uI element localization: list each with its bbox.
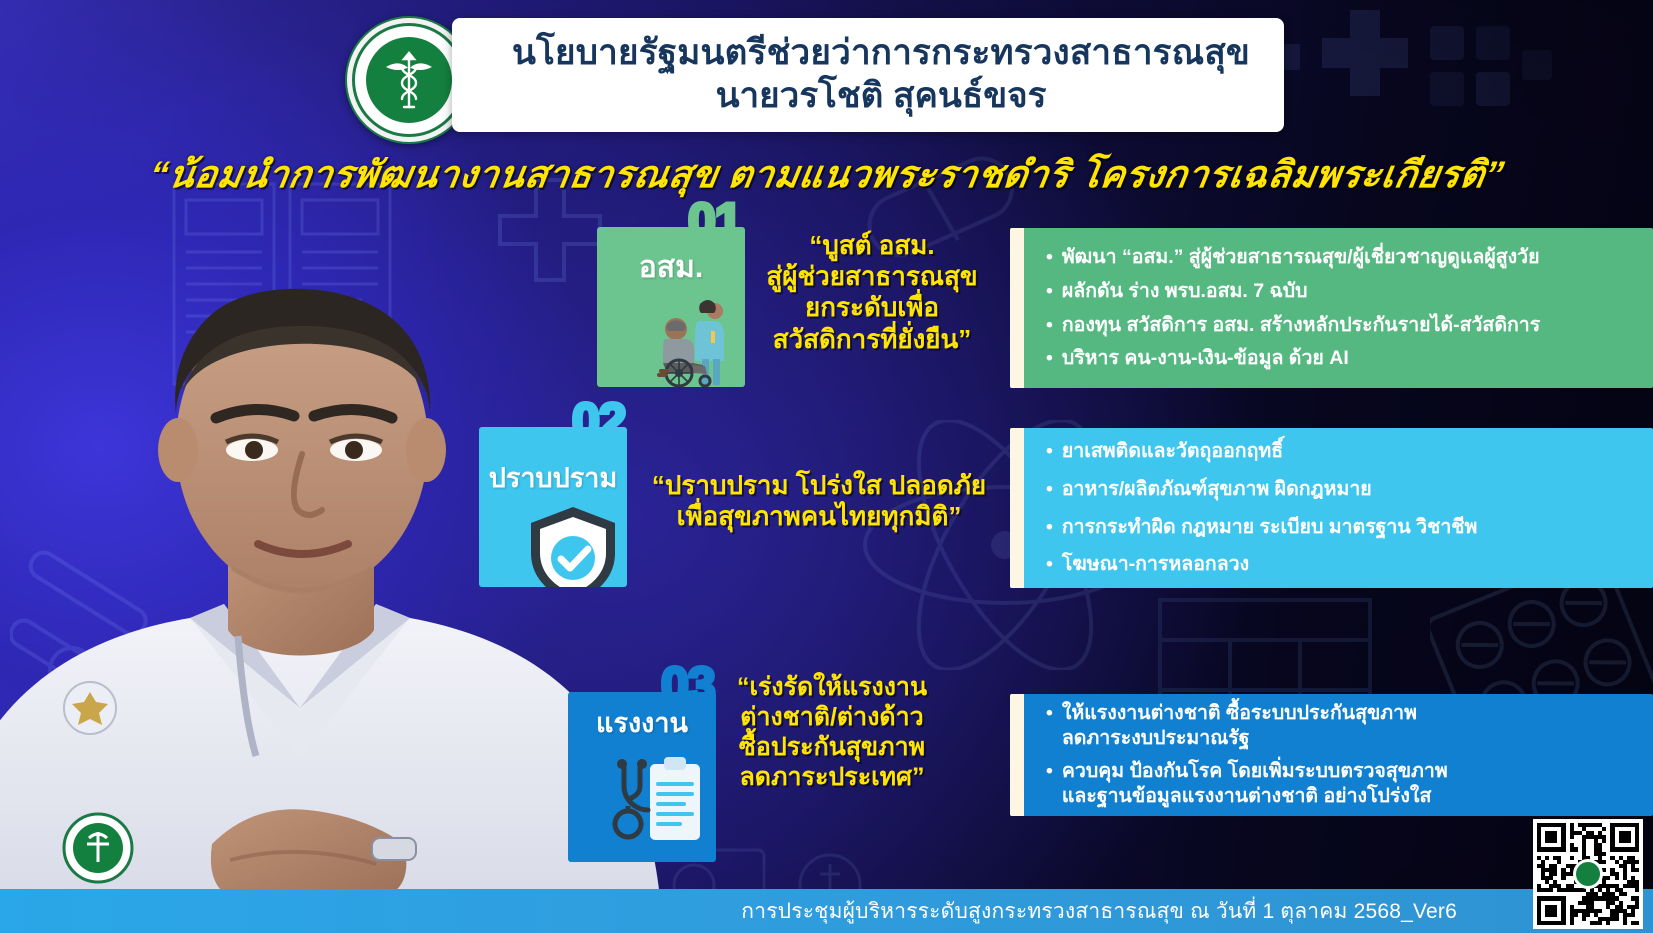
bullet-dot: •	[1046, 515, 1053, 540]
list-item: • อาหาร/ผลิตภัณฑ์สุขภาพ ผิดกฎหมาย	[1046, 477, 1637, 502]
section-02-quote: “ปราบปราม โปร่งใส ปลอดภัยเพื่อสุขภาพคนไท…	[634, 470, 1004, 532]
bullet-text: พัฒนา “อสม.” สู่ผู้ช่วยสาธารณสุข/ผู้เชี่…	[1062, 245, 1540, 270]
section-01-card-title: อสม.	[639, 253, 703, 283]
bullet-text: ผลักดัน ร่าง พรบ.อสม. 7 ฉบับ	[1062, 279, 1308, 304]
panel-edge	[1010, 428, 1024, 588]
qr-code[interactable]	[1533, 819, 1643, 929]
subtitle-text: “น้อมนำการพัฒนางานสาธารณสุข ตามแนวพระราช…	[145, 145, 1508, 204]
bullet-dot: •	[1046, 701, 1053, 726]
header-title-line2: นายวรโชติ สุคนธ์ขจร	[716, 76, 1047, 117]
section-01-quote: “บูสต์ อสม.สู่ผู้ช่วยสาธารณสุขยกระดับเพื…	[752, 230, 992, 355]
bullet-text: ให้แรงงานต่างชาติ ซื้อระบบประกันสุขภาพลด…	[1062, 701, 1417, 751]
bullet-dot: •	[1046, 552, 1053, 577]
bullet-dot: •	[1046, 439, 1053, 464]
footer-text: การประชุมผู้บริหารระดับสูงกระทรวงสาธารณส…	[741, 895, 1457, 928]
list-item: • ผลักดัน ร่าง พรบ.อสม. 7 ฉบับ	[1046, 279, 1637, 304]
subtitle-banner: “น้อมนำการพัฒนางานสาธารณสุข ตามแนวพระราช…	[0, 142, 1653, 206]
bullet-dot: •	[1046, 759, 1053, 784]
section-02-card: ปราบปราม	[479, 427, 627, 587]
section-02-panel: • ยาเสพติดและวัตถุออกฤทธิ์ • อาหาร/ผลิตภ…	[1010, 428, 1653, 588]
shield-check-icon	[523, 503, 623, 587]
bullet-dot: •	[1046, 313, 1053, 338]
panel-edge	[1010, 228, 1024, 388]
infographic-canvas: นโยบายรัฐมนตรีช่วยว่าการกระทรวงสาธารณสุข…	[0, 0, 1653, 933]
list-item: • ควบคุม ป้องกันโรค โดยเพิ่มระบบตรวจสุขภ…	[1046, 759, 1637, 809]
bullet-text: ควบคุม ป้องกันโรค โดยเพิ่มระบบตรวจสุขภาพ…	[1062, 759, 1448, 809]
bullet-text: อาหาร/ผลิตภัณฑ์สุขภาพ ผิดกฎหมาย	[1062, 477, 1372, 502]
caregiver-wheelchair-icon	[643, 285, 745, 387]
section-03-card: แรงงาน	[568, 692, 716, 862]
section-03-quote: “เร่งรัดให้แรงงานต่างชาติ/ต่างด้าวซื้อปร…	[720, 672, 944, 792]
list-item: • ให้แรงงานต่างชาติ ซื้อระบบประกันสุขภาพ…	[1046, 701, 1637, 751]
bullet-dot: •	[1046, 245, 1053, 270]
list-item: • ยาเสพติดและวัตถุออกฤทธิ์	[1046, 439, 1637, 464]
list-item: • บริหาร คน-งาน-เงิน-ข้อมูล ด้วย AI	[1046, 346, 1637, 371]
section-03-panel: • ให้แรงงานต่างชาติ ซื้อระบบประกันสุขภาพ…	[1010, 694, 1653, 816]
header-title-line1: นโยบายรัฐมนตรีช่วยว่าการกระทรวงสาธารณสุข	[512, 33, 1250, 74]
section-01-bullet-list: • พัฒนา “อสม.” สู่ผู้ช่วยสาธารณสุข/ผู้เช…	[1046, 245, 1637, 372]
list-item: • กองทุน สวัสดิการ อสม. สร้างหลักประกันร…	[1046, 313, 1637, 338]
section-03-card-title: แรงงาน	[596, 710, 688, 737]
list-item: • พัฒนา “อสม.” สู่ผู้ช่วยสาธารณสุข/ผู้เช…	[1046, 245, 1637, 270]
bullet-text: กองทุน สวัสดิการ อสม. สร้างหลักประกันราย…	[1062, 313, 1540, 338]
bullet-text: การกระทำผิด กฎหมาย ระเบียบ มาตรฐาน วิชาช…	[1062, 515, 1478, 540]
header-banner: นโยบายรัฐมนตรีช่วยว่าการกระทรวงสาธารณสุข…	[452, 18, 1284, 132]
bullet-text: โฆษณา-การหลอกลวง	[1062, 552, 1249, 577]
clipboard-stethoscope-icon	[606, 752, 716, 862]
list-item: • การกระทำผิด กฎหมาย ระเบียบ มาตรฐาน วิช…	[1046, 515, 1637, 540]
bullet-dot: •	[1046, 279, 1053, 304]
section-01-card: อสม.	[597, 227, 745, 387]
footer-bar: การประชุมผู้บริหารระดับสูงกระทรวงสาธารณส…	[0, 889, 1653, 933]
qr-center-logo	[1573, 859, 1603, 889]
bullet-dot: •	[1046, 477, 1053, 502]
bullet-text: บริหาร คน-งาน-เงิน-ข้อมูล ด้วย AI	[1062, 346, 1349, 371]
list-item: • โฆษณา-การหลอกลวง	[1046, 552, 1637, 577]
section-02-bullet-list: • ยาเสพติดและวัตถุออกฤทธิ์ • อาหาร/ผลิตภ…	[1046, 439, 1637, 578]
section-02-card-title: ปราบปราม	[489, 465, 618, 492]
section-03-bullet-list: • ให้แรงงานต่างชาติ ซื้อระบบประกันสุขภาพ…	[1046, 701, 1637, 809]
bullet-text: ยาเสพติดและวัตถุออกฤทธิ์	[1062, 439, 1283, 464]
bullet-dot: •	[1046, 346, 1053, 371]
section-01-panel: • พัฒนา “อสม.” สู่ผู้ช่วยสาธารณสุข/ผู้เช…	[1010, 228, 1653, 388]
panel-edge	[1010, 694, 1024, 816]
